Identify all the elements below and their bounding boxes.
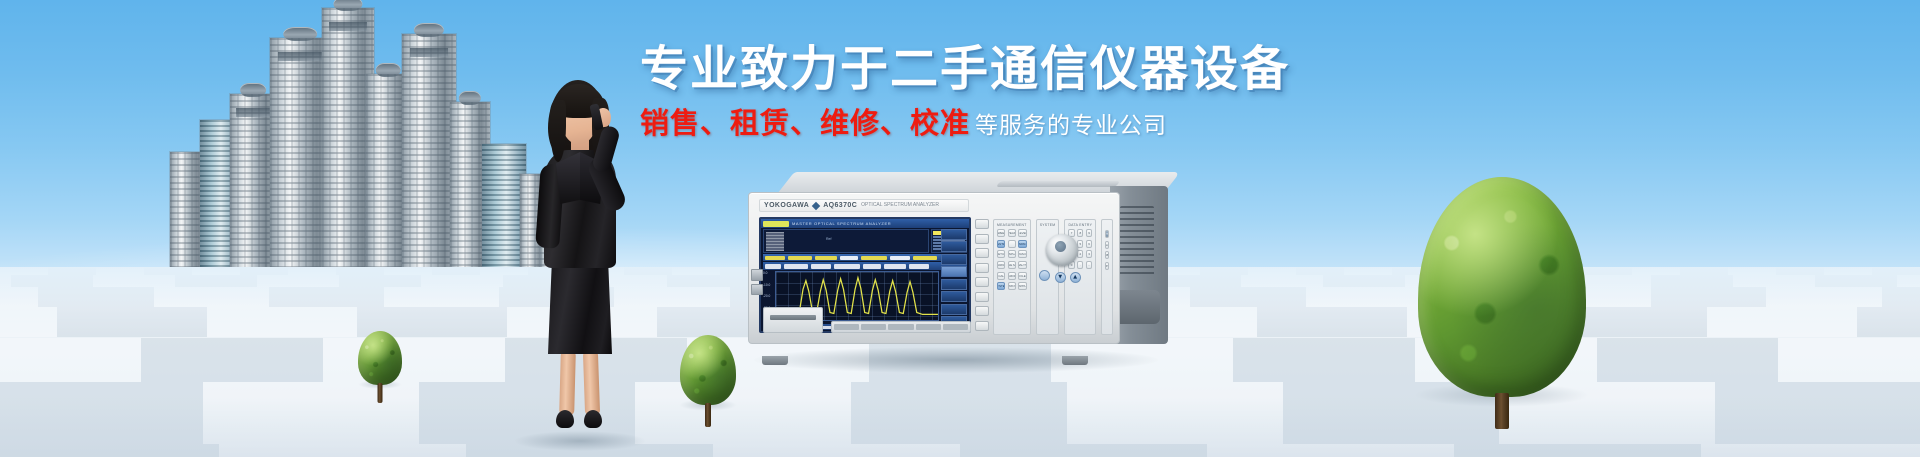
brand-name: YOKOGAWA bbox=[764, 202, 809, 209]
small-tree-left bbox=[358, 331, 402, 385]
knob-dimple bbox=[1055, 241, 1066, 252]
banner-copy: 专业致力于二手通信仪器设备 销售、租赁、维修、校准等服务的专业公司 bbox=[640, 44, 1200, 140]
businesswoman-on-phone bbox=[500, 72, 660, 447]
control-panel: MEASUREMENT SWEEP PEAK LEVEL CENTER SPAN… bbox=[993, 219, 1113, 335]
knob-mode-button[interactable] bbox=[1039, 270, 1050, 281]
y-tick: 0.0 bbox=[763, 271, 774, 275]
bezel-softkey[interactable] bbox=[975, 277, 989, 287]
key-trace[interactable]: TRACE bbox=[1018, 250, 1026, 258]
keypad-header: MEASUREMENT bbox=[997, 223, 1027, 227]
bezel-softkey[interactable] bbox=[975, 248, 989, 258]
key-2[interactable]: 2 bbox=[1077, 250, 1083, 258]
display-softkey-menu[interactable] bbox=[941, 229, 967, 327]
display-title-text: MASTER OPTICAL SPECTRUM ANALYZER bbox=[792, 221, 891, 226]
model-name: AQ6370C bbox=[823, 202, 857, 209]
display-toolbar[interactable] bbox=[763, 262, 967, 270]
key-span[interactable]: SPAN bbox=[1018, 240, 1026, 248]
bezel-softkey[interactable] bbox=[975, 219, 989, 229]
keypad-header: DATA ENTRY bbox=[1068, 223, 1092, 227]
key-8[interactable]: 8 bbox=[1077, 229, 1083, 237]
key-display[interactable]: DISPLAY bbox=[1008, 250, 1016, 258]
banner-subtitle-rest: 等服务的专业公司 bbox=[975, 113, 1167, 139]
bezel-softkey[interactable] bbox=[975, 263, 989, 273]
leg bbox=[583, 350, 600, 416]
key-peak[interactable]: PEAK bbox=[1008, 229, 1016, 237]
figure-shadow bbox=[515, 431, 645, 451]
unit-keypad: ENTER nm dB BS bbox=[1101, 219, 1113, 335]
display-softkey[interactable] bbox=[941, 279, 967, 290]
bezel-softkey[interactable] bbox=[975, 234, 989, 244]
display-softkey[interactable] bbox=[941, 304, 967, 315]
key-setup[interactable]: SETUP bbox=[997, 250, 1005, 258]
key-level[interactable]: LEVEL bbox=[1018, 229, 1026, 237]
arrow-up-icon[interactable]: ▲ bbox=[1070, 272, 1081, 283]
banner-subtitle-highlight: 销售、租赁、维修、校准 bbox=[640, 106, 970, 140]
key-marker[interactable]: MARKER bbox=[997, 261, 1005, 269]
key-backspace[interactable]: BS bbox=[1105, 262, 1109, 270]
floor-shading bbox=[0, 397, 1920, 457]
display-info-block bbox=[766, 232, 784, 251]
key-6[interactable]: 6 bbox=[1086, 240, 1092, 248]
instrument-front-panel: YOKOGAWA AQ6370C OPTICAL SPECTRUM ANALYZ… bbox=[748, 192, 1120, 344]
usb-ports[interactable] bbox=[751, 269, 763, 295]
floor-tile bbox=[323, 338, 505, 383]
key-analysis[interactable]: ANALYSIS bbox=[1018, 261, 1026, 269]
y-tick: -20.0 bbox=[763, 294, 774, 298]
key-5[interactable]: 5 bbox=[1077, 240, 1083, 248]
display-menubar[interactable] bbox=[763, 254, 967, 261]
floor-tile bbox=[1778, 338, 1920, 383]
display-softkey[interactable] bbox=[941, 241, 967, 252]
banner-headline: 专业致力于二手通信仪器设备 bbox=[640, 44, 1200, 96]
floor-tile bbox=[0, 338, 141, 383]
key-print[interactable]: PRINT bbox=[1008, 282, 1016, 290]
key-system[interactable]: SYSTEM bbox=[997, 282, 1005, 290]
key-appli[interactable]: APPLI bbox=[1018, 282, 1026, 290]
key-cal[interactable]: CAL bbox=[997, 272, 1005, 280]
key-decimal[interactable]: . bbox=[1077, 261, 1083, 269]
small-tree-center bbox=[680, 335, 736, 405]
key-zone-mkr[interactable]: ZONE MKR bbox=[1008, 261, 1016, 269]
bezel-softkey-column[interactable] bbox=[975, 219, 989, 331]
display-info-text: Ref bbox=[826, 237, 831, 241]
display-titlebar: MASTER OPTICAL SPECTRUM ANALYZER bbox=[761, 219, 969, 228]
key-center[interactable]: CENTER bbox=[997, 240, 1005, 248]
optical-spectrum-analyzer: YOKOGAWA AQ6370C OPTICAL SPECTRUM ANALYZ… bbox=[748, 172, 1168, 357]
arrow-down-icon[interactable]: ▼ bbox=[1055, 272, 1066, 283]
key-enter[interactable]: ENTER bbox=[1105, 230, 1109, 238]
key-9[interactable]: 9 bbox=[1086, 229, 1092, 237]
model-subtitle: OPTICAL SPECTRUM ANALYZER bbox=[861, 203, 939, 208]
large-tree-right bbox=[1418, 177, 1586, 397]
shoe bbox=[584, 410, 602, 428]
key-sweep[interactable]: SWEEP bbox=[997, 229, 1005, 237]
vent-grille bbox=[1120, 206, 1154, 276]
brand-plate: YOKOGAWA AQ6370C OPTICAL SPECTRUM ANALYZ… bbox=[759, 199, 969, 212]
display-softkey[interactable] bbox=[941, 291, 967, 302]
usb-port[interactable] bbox=[751, 284, 763, 296]
key-memory[interactable]: MEMORY bbox=[1008, 272, 1016, 280]
measurement-keypad: MEASUREMENT SWEEP PEAK LEVEL CENTER SPAN… bbox=[993, 219, 1031, 335]
banner-subline: 销售、租赁、维修、校准等服务的专业公司 bbox=[640, 108, 1200, 140]
key-nm[interactable]: nm bbox=[1105, 241, 1109, 249]
display-model-chip bbox=[763, 221, 789, 227]
instrument-top-seam bbox=[996, 181, 1121, 187]
lower-connector-bar bbox=[831, 321, 971, 333]
display-softkey-selected[interactable] bbox=[941, 266, 967, 277]
building bbox=[402, 34, 456, 270]
floor-tile bbox=[1597, 338, 1779, 383]
key-minus[interactable]: - bbox=[1086, 261, 1092, 269]
floor-tile bbox=[1233, 338, 1415, 383]
building bbox=[170, 152, 204, 270]
entry-knob-panel: SYSTEM ▼ ▲ bbox=[1036, 219, 1060, 335]
bezel-softkey[interactable] bbox=[975, 306, 989, 316]
drive-slot bbox=[770, 315, 816, 320]
y-tick: -10.0 bbox=[763, 283, 774, 287]
promo-banner: 专业致力于二手通信仪器设备 销售、租赁、维修、校准等服务的专业公司 YOKOGA… bbox=[0, 0, 1920, 457]
floor-tile bbox=[141, 338, 323, 383]
keypad-header: SYSTEM bbox=[1040, 223, 1056, 227]
bezel-softkey[interactable] bbox=[975, 292, 989, 302]
bezel-softkey[interactable] bbox=[975, 321, 989, 331]
key-spacer bbox=[1008, 240, 1016, 248]
rotary-knob[interactable] bbox=[1046, 234, 1078, 266]
instrument-feet bbox=[762, 356, 1106, 365]
key-db[interactable]: dB bbox=[1105, 251, 1109, 259]
key-file[interactable]: FILE bbox=[1018, 272, 1026, 280]
usb-port[interactable] bbox=[751, 269, 763, 281]
display-softkey[interactable] bbox=[941, 229, 967, 240]
display-softkey[interactable] bbox=[941, 254, 967, 265]
brand-diamond-icon bbox=[812, 201, 820, 209]
shoe bbox=[556, 410, 574, 428]
leg bbox=[559, 350, 576, 416]
key-3[interactable]: 3 bbox=[1086, 250, 1092, 258]
building bbox=[270, 38, 330, 270]
skirt bbox=[548, 262, 612, 354]
floppy-drive[interactable] bbox=[763, 307, 823, 333]
display-info-pane: Ref bbox=[763, 229, 929, 253]
